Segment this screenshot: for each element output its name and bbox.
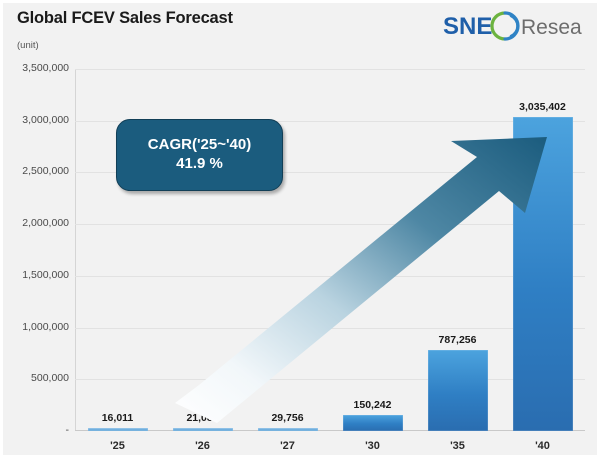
gridline — [75, 276, 585, 277]
y-axis-tick-label: 3,500,000 — [7, 62, 69, 74]
gridline — [75, 69, 585, 70]
bar-40[interactable] — [513, 117, 573, 431]
y-axis-tick-label: 1,500,000 — [7, 269, 69, 281]
chart-root: Global FCEV Sales Forecast (unit) SNE Re… — [0, 0, 600, 458]
bar-value-label: 150,242 — [323, 399, 423, 411]
y-axis-tick-label: 2,500,000 — [7, 165, 69, 177]
gridline — [75, 328, 585, 329]
cagr-callout-box: CAGR('25~'40) 41.9 % — [116, 119, 283, 191]
bar-value-label: 787,256 — [408, 334, 508, 346]
y-axis-tick-label: 1,000,000 — [7, 321, 69, 333]
y-axis-tick-label: 500,000 — [7, 372, 69, 384]
bar-value-label: 29,756 — [238, 412, 338, 424]
x-axis-tick-label: '40 — [493, 440, 593, 452]
bar-26[interactable] — [173, 428, 233, 431]
y-axis-tick-label: 3,000,000 — [7, 114, 69, 126]
y-axis-tick-label: - — [7, 424, 69, 436]
bar-27[interactable] — [258, 428, 318, 431]
bar-25[interactable] — [88, 428, 148, 431]
bar-35[interactable] — [428, 350, 488, 431]
cagr-value-label: 41.9 % — [176, 155, 223, 174]
bar-value-label: 3,035,402 — [493, 101, 593, 113]
gridline — [75, 379, 585, 380]
cagr-range-label: CAGR('25~'40) — [148, 136, 251, 155]
gridline — [75, 224, 585, 225]
x-axis-baseline — [75, 430, 585, 431]
bar-30[interactable] — [343, 415, 403, 431]
y-axis-tick-label: 2,000,000 — [7, 217, 69, 229]
